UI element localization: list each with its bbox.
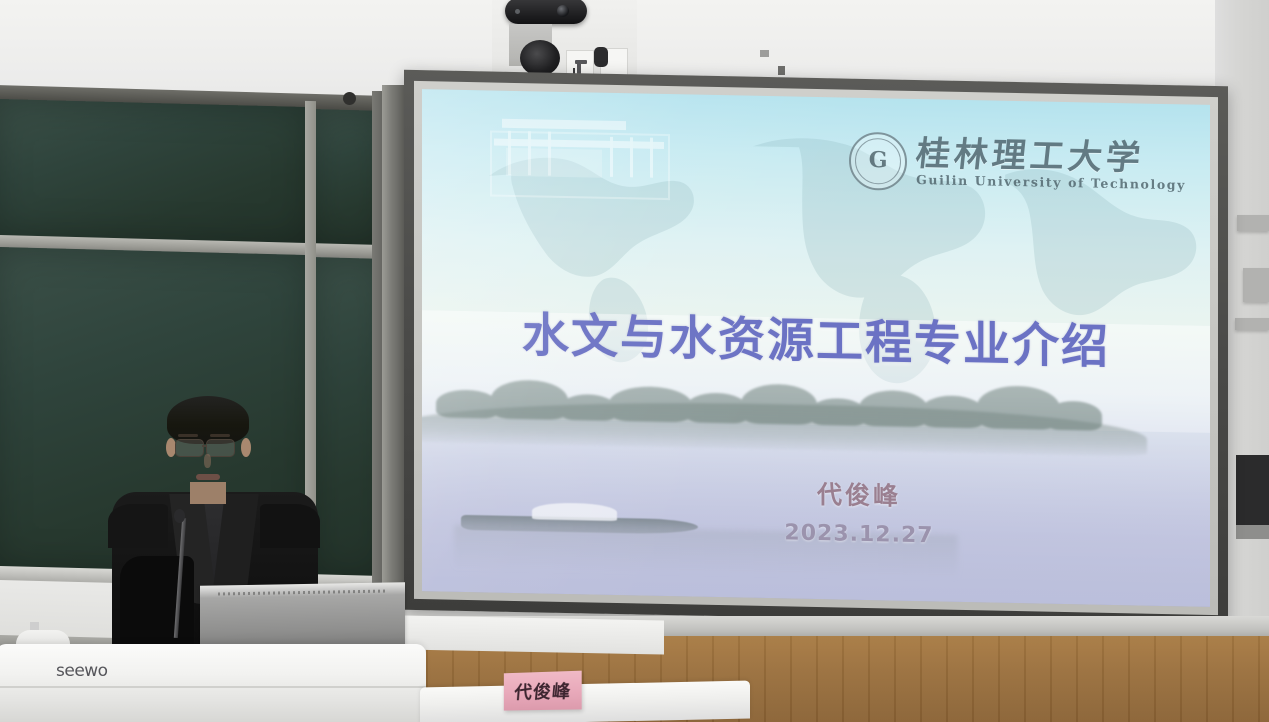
- glasses-lens-left-icon: [175, 439, 204, 457]
- ceiling-camera-bar: [505, 0, 587, 24]
- outlet-slot: [575, 60, 587, 64]
- foreground-dark-shape: [120, 556, 194, 648]
- glasses-lens-right-icon: [206, 439, 235, 457]
- wall-mark-2: [778, 66, 785, 75]
- under-screen-strip: [404, 616, 664, 655]
- microphone-head-icon: [174, 509, 185, 523]
- projection-screen-frame: G 桂林理工大学 Guilin University of Technology…: [404, 70, 1228, 627]
- presenter-laptop[interactable]: [200, 582, 405, 648]
- screen-bezel: G 桂林理工大学 Guilin University of Technology…: [414, 81, 1218, 615]
- university-name-cn: 桂林理工大学: [914, 137, 1187, 176]
- presenter-ear-right: [241, 438, 251, 457]
- blackboard-post-outer: [382, 85, 404, 645]
- reflection-mullion: [528, 131, 531, 175]
- lecture-hall-scene: 设备编号 多媒体教室 GLUT-2023: [0, 0, 1269, 722]
- reflection-mullion: [508, 131, 511, 175]
- front-table: [420, 681, 750, 722]
- name-placard: 代俊峰: [504, 671, 582, 711]
- window-reflection: [484, 112, 679, 208]
- university-logo-text: 桂林理工大学 Guilin University of Technology: [916, 137, 1186, 192]
- camera-lens-icon: [557, 5, 569, 17]
- glasses-bridge-icon: [202, 445, 207, 447]
- blackboard-knob: [343, 92, 356, 105]
- laptop-vents: [218, 590, 388, 596]
- podium-brand-label: seewo: [56, 661, 108, 681]
- wall-shelf-1: [1237, 215, 1269, 231]
- seewo-podium: seewo: [0, 644, 426, 722]
- camera-led-icon: [515, 9, 520, 14]
- university-name-en: Guilin University of Technology: [916, 174, 1186, 192]
- blackboard-panel-upper-left: [0, 99, 310, 244]
- wall-shelf-3: [1235, 318, 1269, 330]
- wall-equipment-box: [1236, 455, 1269, 525]
- presenter-shoulder-left: [108, 504, 168, 548]
- podium-seam: [0, 686, 426, 688]
- wall-mark-1: [760, 50, 769, 57]
- presenter-eyebrow-right: [210, 434, 230, 437]
- reflection-bar: [506, 148, 602, 178]
- presenter-nose: [204, 454, 211, 468]
- power-plug: [594, 47, 608, 67]
- seal-glyph: G: [869, 149, 888, 171]
- reflection-bar: [502, 119, 626, 130]
- presenter-eyebrow-left: [178, 434, 198, 437]
- university-seal-icon: G: [849, 132, 907, 191]
- presenter-mouth: [196, 474, 220, 480]
- reflection-mullion: [650, 138, 653, 178]
- reflection-mullion: [548, 132, 551, 176]
- ceiling-speaker: [520, 40, 560, 76]
- presentation-slide[interactable]: G 桂林理工大学 Guilin University of Technology…: [422, 89, 1210, 607]
- reflection-mullion: [610, 137, 613, 177]
- wall-equipment-shelf: [1236, 525, 1269, 539]
- wall-shelf-2: [1243, 268, 1269, 302]
- name-placard-text: 代俊峰: [513, 677, 572, 704]
- university-logo: G 桂林理工大学 Guilin University of Technology: [849, 132, 1186, 197]
- reflection-mullion: [630, 137, 633, 177]
- presenter-shoulder-right: [260, 504, 320, 548]
